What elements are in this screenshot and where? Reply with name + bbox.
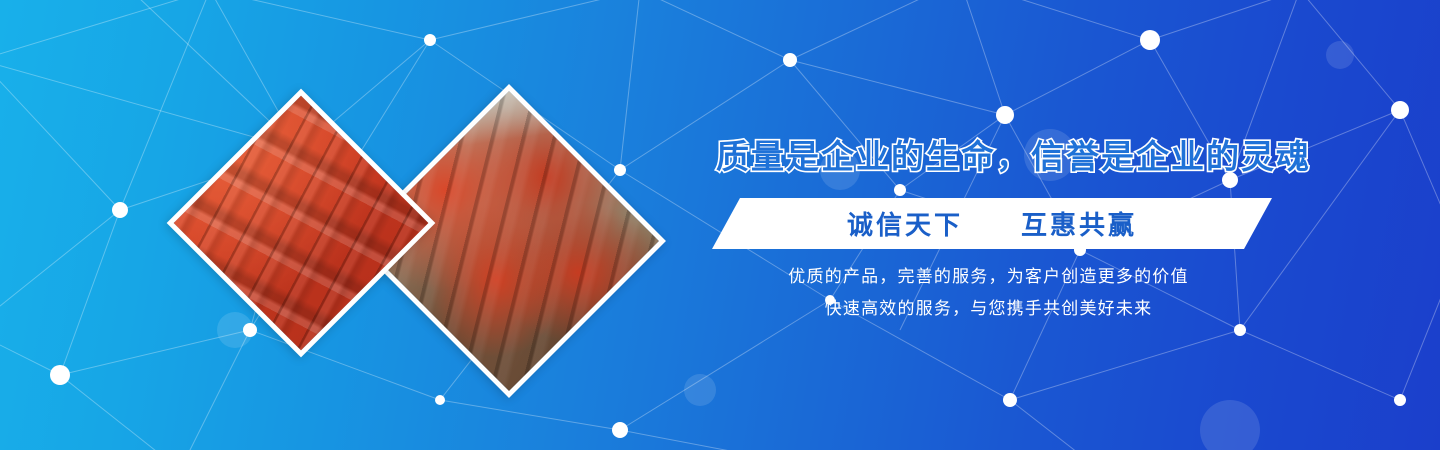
promo-banner: 质量是企业的生命，信誉是企业的灵魂 诚信天下 互惠共赢 优质的产品，完善的服务，… [0,0,1440,450]
slogan-ribbon-text: 诚信天下 互惠共赢 [712,198,1272,249]
product-photo-diamond-drive-shafts [167,89,436,358]
banner-subcopy: 优质的产品，完善的服务，为客户创造更多的价值 快速高效的服务，与您携手共创美好未… [716,261,1261,325]
banner-headline: 质量是企业的生命，信誉是企业的灵魂 [716,135,1261,179]
banner-subcopy-line-2: 快速高效的服务，与您携手共创美好未来 [716,293,1261,325]
product-photo-drive-shafts-image [167,89,436,358]
slogan-ribbon: 诚信天下 互惠共赢 [712,198,1272,249]
banner-subcopy-line-1: 优质的产品，完善的服务，为客户创造更多的价值 [716,261,1261,293]
